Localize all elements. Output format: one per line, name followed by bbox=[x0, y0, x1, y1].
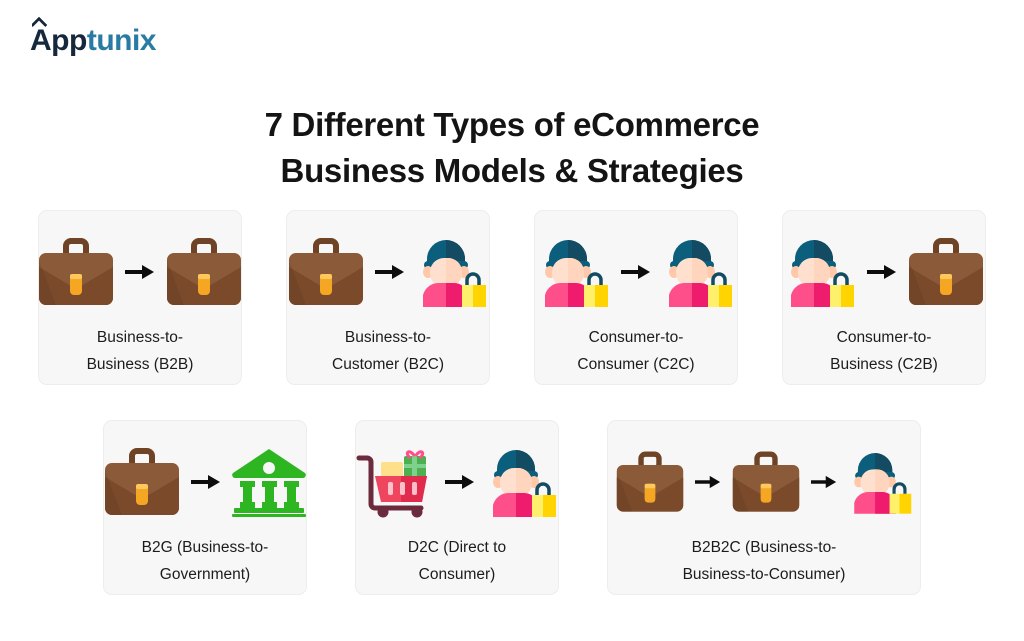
consumer-icon bbox=[661, 237, 735, 307]
logo-caret-wrap: App bbox=[30, 26, 87, 56]
card-label: Consumer-to- Consumer (C2C) bbox=[535, 325, 737, 378]
consumer-icon bbox=[783, 237, 857, 307]
page-title-line-1: 7 Different Types of eCommerce bbox=[0, 102, 1024, 148]
arrow-right-icon bbox=[867, 263, 897, 281]
icon-row bbox=[783, 233, 985, 311]
arrow-right-icon bbox=[191, 473, 221, 491]
card-label: Business-to- Business (B2B) bbox=[39, 325, 241, 378]
briefcase-icon bbox=[103, 447, 181, 517]
card-b2b2c[interactable]: B2B2C (Business-to- Business-to-Consumer… bbox=[607, 420, 921, 595]
card-c2b[interactable]: Consumer-to- Business (C2B) bbox=[782, 210, 986, 385]
page-title-line-2: Business Models & Strategies bbox=[0, 148, 1024, 194]
arrow-right-icon bbox=[695, 474, 721, 490]
icon-row bbox=[103, 443, 307, 521]
card-d2c[interactable]: D2C (Direct to Consumer) bbox=[355, 420, 559, 595]
card-label-line-2: Government) bbox=[160, 566, 250, 583]
arrow-right-icon bbox=[375, 263, 405, 281]
card-label-line-2: Consumer) bbox=[419, 566, 496, 583]
card-label: B2G (Business-to- Government) bbox=[104, 535, 306, 588]
icon-row bbox=[355, 443, 559, 521]
caret-accent-icon bbox=[32, 17, 47, 28]
card-label-line-1: Business-to- bbox=[345, 329, 431, 346]
consumer-icon bbox=[415, 237, 489, 307]
card-row-bottom: B2G (Business-to- Government) bbox=[0, 420, 1024, 595]
briefcase-icon bbox=[37, 237, 115, 307]
icon-row bbox=[287, 233, 489, 311]
arrow-right-icon bbox=[125, 263, 155, 281]
briefcase-icon bbox=[287, 237, 365, 307]
consumer-icon bbox=[485, 447, 559, 517]
card-label: B2B2C (Business-to- Business-to-Consumer… bbox=[608, 535, 920, 588]
card-label-line-1: Consumer-to- bbox=[589, 329, 684, 346]
card-c2c[interactable]: Consumer-to- Consumer (C2C) bbox=[534, 210, 738, 385]
briefcase-icon bbox=[165, 237, 243, 307]
arrow-right-icon bbox=[811, 474, 837, 490]
icon-row bbox=[537, 233, 735, 311]
card-label-line-2: Customer (B2C) bbox=[332, 356, 444, 373]
card-label-line-2: Business-to-Consumer) bbox=[683, 566, 846, 583]
government-building-icon bbox=[231, 447, 307, 517]
card-label-line-2: Business (C2B) bbox=[830, 356, 938, 373]
gift-box bbox=[404, 452, 426, 478]
card-b2b[interactable]: Business-to- Business (B2B) bbox=[38, 210, 242, 385]
card-label-line-2: Consumer (C2C) bbox=[577, 356, 694, 373]
card-label: Business-to- Customer (B2C) bbox=[287, 325, 489, 378]
card-label-line-1: D2C (Direct to bbox=[408, 539, 506, 556]
logo-text-light: tunix bbox=[87, 24, 156, 57]
card-b2g[interactable]: B2G (Business-to- Government) bbox=[103, 420, 307, 595]
briefcase-icon bbox=[731, 450, 801, 514]
card-label-line-1: Consumer-to- bbox=[837, 329, 932, 346]
briefcase-icon bbox=[615, 450, 685, 514]
logo-text-dark: App bbox=[30, 24, 87, 57]
page-title: 7 Different Types of eCommerce Business … bbox=[0, 102, 1024, 193]
card-label-line-1: B2G (Business-to- bbox=[142, 539, 269, 556]
card-label: Consumer-to- Business (C2B) bbox=[783, 325, 985, 378]
briefcase-icon bbox=[907, 237, 985, 307]
consumer-icon bbox=[847, 450, 914, 514]
consumer-icon bbox=[537, 237, 611, 307]
card-label: D2C (Direct to Consumer) bbox=[356, 535, 558, 588]
card-label-line-2: Business (B2B) bbox=[87, 356, 194, 373]
icon-row bbox=[37, 233, 243, 311]
icon-row bbox=[615, 443, 914, 521]
card-label-line-1: Business-to- bbox=[97, 329, 183, 346]
card-b2c[interactable]: Business-to- Customer (B2C) bbox=[286, 210, 490, 385]
apptunix-logo: App tunix bbox=[30, 26, 156, 56]
card-label-line-1: B2B2C (Business-to- bbox=[692, 539, 837, 556]
shopping-cart-icon bbox=[355, 446, 435, 518]
arrow-right-icon bbox=[445, 473, 475, 491]
card-row-top: Business-to- Business (B2B) bbox=[0, 210, 1024, 385]
arrow-right-icon bbox=[621, 263, 651, 281]
